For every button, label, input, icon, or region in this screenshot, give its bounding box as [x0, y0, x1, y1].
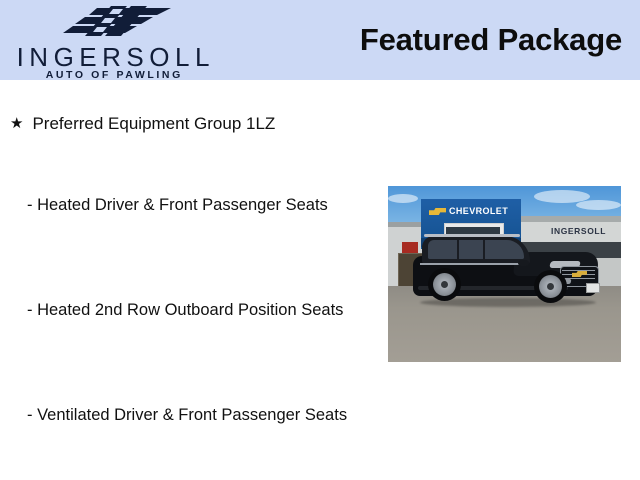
photo-dealership-sign-text: CHEVROLET: [449, 207, 508, 216]
photo-sign-content: CHEVROLET: [426, 203, 519, 220]
list-item: - Heated 2nd Row Outboard Position Seats: [27, 300, 357, 321]
star-bullet-icon: ★: [10, 115, 23, 134]
vehicle-photo: INGERSOLL CHEVROLET: [388, 186, 621, 362]
suv-roof-rail: [424, 234, 520, 237]
photo-right-building-roof: [521, 216, 621, 222]
suv-side-mirror: [518, 260, 529, 266]
suv-grille-bar: [562, 270, 595, 271]
ingersoll-wing-emblem-icon: [53, 6, 178, 44]
logo-subwordmark: AUTO OF PAWLING: [8, 70, 218, 81]
suv-pillar: [483, 240, 485, 259]
package-heading-label: Preferred Equipment Group 1LZ: [32, 114, 275, 133]
page-title: Featured Package: [360, 21, 622, 60]
package-heading: ★Preferred Equipment Group 1LZ: [10, 113, 380, 134]
list-item: - Heated Driver & Front Passenger Seats: [27, 195, 357, 216]
photo-cloud: [388, 194, 418, 203]
chevrolet-bowtie-icon: [429, 208, 446, 215]
suv-vehicle: [410, 230, 600, 312]
logo-wordmark: INGERSOLL: [8, 44, 218, 70]
list-item: - Ventilated Driver & Front Passenger Se…: [27, 405, 357, 426]
suv-glass: [428, 240, 524, 259]
suv-hub: [547, 283, 554, 290]
header-band: INGERSOLL AUTO OF PAWLING Featured Packa…: [0, 0, 640, 80]
content-area: ★Preferred Equipment Group 1LZ - Heated …: [0, 80, 640, 480]
suv-chrome-beltline: [420, 263, 524, 265]
suv-hub: [441, 281, 448, 288]
suv-license-plate: [586, 283, 600, 293]
dealer-logo: INGERSOLL AUTO OF PAWLING: [8, 4, 218, 78]
suv-pillar: [457, 240, 459, 259]
photo-cloud: [576, 200, 621, 210]
